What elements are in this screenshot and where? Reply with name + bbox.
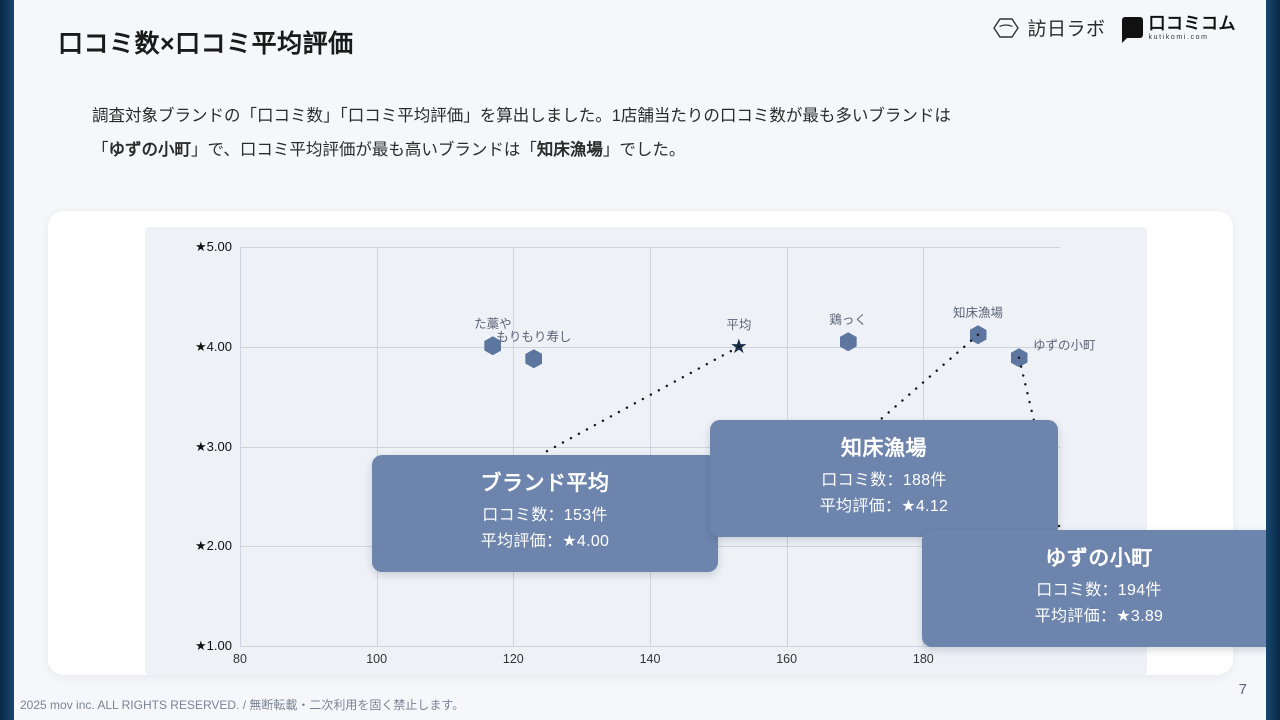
y-gridline bbox=[240, 247, 1060, 248]
lead-line-2-e: 」でした。 bbox=[603, 141, 686, 159]
lead-line-1: 調査対象ブランドの「口コミ数」「口コミ平均評価」を算出しました。1店舗当たりの口… bbox=[92, 100, 1152, 134]
callout-title: ゆずの小町 bbox=[948, 542, 1250, 572]
y-axis-tick-label: ★2.00 bbox=[195, 538, 232, 554]
callout-box: ブランド平均口コミ数：153件平均評価：★4.00 bbox=[372, 455, 718, 572]
data-point-marker[interactable] bbox=[970, 325, 987, 344]
logo-kutikomi-label: 口コミコム bbox=[1149, 15, 1237, 32]
logo-group: 訪日ラボ 口コミコム kutikomi.com bbox=[993, 14, 1236, 41]
lead-paragraph: 調査対象ブランドの「口コミ数」「口コミ平均評価」を算出しました。1店舗当たりの口… bbox=[92, 100, 1152, 168]
callout-title: ブランド平均 bbox=[398, 467, 692, 497]
slide: 口コミ数×口コミ平均評価 訪日ラボ 口コミコム kutikomi.com 調査対… bbox=[0, 0, 1280, 720]
page-number: 7 bbox=[1239, 681, 1247, 698]
callout-average-rating: 平均評価：★4.12 bbox=[736, 494, 1032, 520]
logo-kutikomi-text: 口コミコム kutikomi.com bbox=[1149, 15, 1237, 41]
lead-line-1-text: 調査対象ブランドの「口コミ数」「口コミ平均評価」を算出しました。1店舗当たりの口… bbox=[92, 107, 951, 125]
callout-review-count: 口コミ数：194件 bbox=[948, 578, 1250, 604]
data-point-label: 鶏っく bbox=[829, 309, 867, 328]
x-axis-tick-label: 100 bbox=[366, 652, 387, 666]
lead-brand-shiretoko: 知床漁場 bbox=[537, 141, 603, 159]
data-point-marker[interactable] bbox=[525, 349, 542, 368]
callout-review-count: 口コミ数：188件 bbox=[736, 468, 1032, 494]
data-point-label: 知床漁場 bbox=[953, 302, 1003, 321]
page-title: 口コミ数×口コミ平均評価 bbox=[58, 24, 354, 60]
data-point-marker[interactable] bbox=[1011, 348, 1028, 367]
x-axis-tick-label: 180 bbox=[913, 652, 934, 666]
lead-brand-yuzu: ゆずの小町 bbox=[109, 141, 192, 159]
callout-box: 知床漁場口コミ数：188件平均評価：★4.12 bbox=[710, 420, 1058, 537]
page-edge-right bbox=[1266, 0, 1280, 720]
y-axis-tick-label: ★1.00 bbox=[195, 638, 232, 654]
page-edge-left bbox=[0, 0, 14, 720]
x-axis-tick-label: 160 bbox=[776, 652, 797, 666]
logo-kutikomi: 口コミコム kutikomi.com bbox=[1122, 15, 1237, 41]
callout-title: 知床漁場 bbox=[736, 432, 1032, 462]
lead-line-2-c: 」で、口コミ平均評価が最も高いブランドは「 bbox=[191, 141, 537, 159]
callout-average-rating: 平均評価：★4.00 bbox=[398, 529, 692, 555]
x-axis-tick-label: 140 bbox=[640, 652, 661, 666]
data-point-label: ゆずの小町 bbox=[1033, 334, 1096, 353]
logo-kutikomi-domain: kutikomi.com bbox=[1149, 34, 1237, 41]
footer-copyright: 2025 mov inc. ALL RIGHTS RESERVED. / 無断転… bbox=[20, 696, 464, 713]
lead-line-2-a: 「 bbox=[92, 141, 109, 159]
x-axis-tick-label: 80 bbox=[233, 652, 247, 666]
y-axis-tick-label: ★3.00 bbox=[195, 439, 232, 455]
y-axis-tick-label: ★4.00 bbox=[195, 339, 232, 355]
data-point-marker[interactable] bbox=[840, 332, 857, 351]
logo-homatsu-labo: 訪日ラボ bbox=[993, 14, 1105, 41]
callout-review-count: 口コミ数：153件 bbox=[398, 503, 692, 529]
lead-line-2: 「ゆずの小町」で、口コミ平均評価が最も高いブランドは「知床漁場」でした。 bbox=[92, 134, 1152, 168]
data-point-label: 平均 bbox=[726, 314, 751, 333]
callout-average-rating: 平均評価：★3.89 bbox=[948, 604, 1250, 630]
average-star-marker[interactable]: ★ bbox=[730, 337, 748, 357]
logo-homatsu-labo-label: 訪日ラボ bbox=[1027, 14, 1105, 41]
y-gridline bbox=[240, 347, 1060, 348]
speech-bubble-icon bbox=[1122, 17, 1143, 38]
x-axis-tick-label: 120 bbox=[503, 652, 524, 666]
hexagon-icon bbox=[993, 18, 1019, 38]
callout-box: ゆずの小町口コミ数：194件平均評価：★3.89 bbox=[922, 530, 1276, 647]
y-axis-tick-label: ★5.00 bbox=[195, 239, 232, 255]
data-point-label: もりもり寿し bbox=[496, 326, 571, 345]
